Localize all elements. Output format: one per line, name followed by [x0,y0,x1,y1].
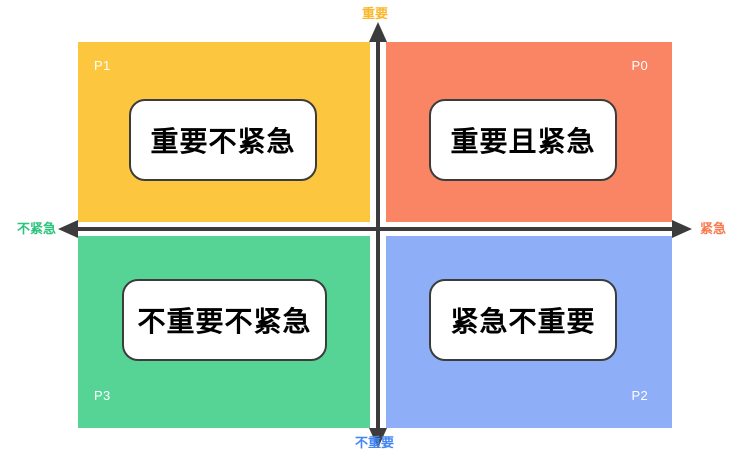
arrowhead-left-icon [58,220,78,238]
axis-label-important: 重要 [362,7,388,20]
quadrant-p1-code: P1 [94,59,111,72]
arrowhead-right-icon [672,220,692,238]
quadrant-p2-code: P2 [631,389,648,402]
arrowhead-up-icon [369,22,387,42]
axis-label-urgent: 紧急 [700,222,726,235]
callout-not-important-not-urgent[interactable]: 不重要不紧急 [122,279,327,361]
quadrant-p3-code: P3 [94,389,111,402]
priority-matrix-diagram: P1 P0 P3 P2 重要不紧急 重要且紧急 不重要不紧急 紧急不重要 重要 … [0,0,734,470]
quadrant-p0-code: P0 [631,59,648,72]
callout-important-and-urgent[interactable]: 重要且紧急 [429,99,617,181]
callout-important-not-urgent[interactable]: 重要不紧急 [129,99,317,181]
callout-urgent-not-important[interactable]: 紧急不重要 [429,279,617,361]
axis-label-not-important: 不重要 [355,436,394,449]
axis-label-not-urgent: 不紧急 [17,222,56,235]
